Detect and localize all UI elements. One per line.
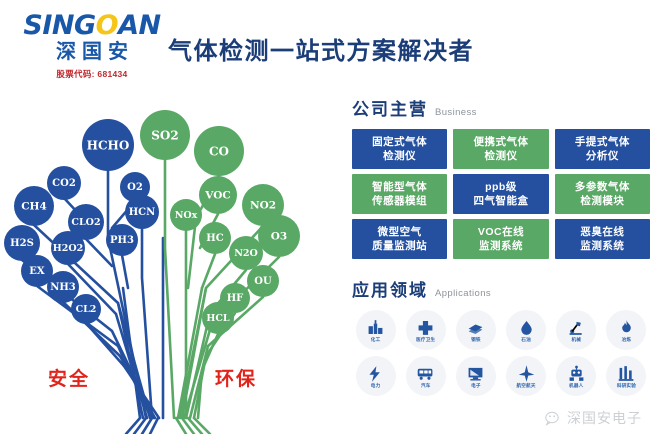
business-card-line2: 质量监测站 — [372, 239, 427, 253]
application-item[interactable]: 机械 — [553, 310, 600, 350]
application-icon-circle: 石油 — [506, 310, 546, 350]
tree-trunk — [126, 418, 210, 434]
application-item[interactable]: 化工 — [352, 310, 399, 350]
application-icon-circle: 冶炼 — [606, 310, 646, 350]
airplane-icon — [517, 364, 536, 383]
application-label: 科研实验 — [617, 384, 636, 389]
application-icon-circle: 电子 — [456, 356, 496, 396]
business-card-line1: 恶臭在线 — [580, 225, 624, 239]
application-icon-circle: 航空航天 — [506, 356, 546, 396]
application-label: 石油 — [521, 338, 531, 343]
business-card[interactable]: 固定式气体检测仪 — [352, 129, 447, 169]
gas-bubbles-blue: HCHOCO2O2CH4CLO2HCNH2SPH3H2O2EXNH3CL2 — [4, 119, 159, 324]
application-label: 机器人 — [569, 384, 583, 389]
application-item[interactable]: 医疗卫生 — [402, 310, 449, 350]
logo-wordmark-part1: SING — [23, 10, 95, 41]
application-label: 电力 — [371, 384, 381, 389]
business-card-line1: 智能型气体 — [372, 180, 427, 194]
gas-label-hf: HF — [227, 293, 244, 304]
stock-code: 股票代码: 681434 — [22, 68, 162, 80]
lab-flask-icon — [617, 364, 636, 383]
gas-label-cl2: CL2 — [76, 304, 97, 315]
gas-label-hcl: HCL — [206, 313, 230, 324]
gas-label-nh3: NH3 — [50, 282, 76, 293]
business-card-line2: 监测系统 — [580, 239, 624, 253]
gas-label-h2s: H2S — [10, 238, 34, 249]
logo-sun-icon: O — [96, 10, 118, 41]
business-card-line2: 传感器模组 — [372, 194, 427, 208]
application-item[interactable]: 冶炼 — [603, 310, 650, 350]
robot-icon — [567, 364, 586, 383]
steel-beam-icon — [466, 318, 485, 337]
application-icon-circle: 医疗卫生 — [406, 310, 446, 350]
wechat-watermark: 深国安电子 — [545, 408, 642, 428]
application-item[interactable]: 科研实验 — [603, 356, 650, 396]
application-icon-circle: 化工 — [356, 310, 396, 350]
business-card[interactable]: 微型空气质量监测站 — [352, 219, 447, 259]
applications-heading-cn: 应用领域 — [352, 276, 428, 301]
gas-label-co2: CO2 — [52, 178, 76, 189]
lightning-bolt-icon — [366, 364, 385, 383]
gas-label-ch4: CH4 — [21, 201, 47, 213]
logo-wordmark-part2: AN — [118, 10, 161, 41]
monitor-icon — [466, 364, 485, 383]
applications-section-heading: 应用领域 Applications — [352, 276, 650, 301]
applications-heading-en: Applications — [435, 288, 491, 299]
application-icon-circle: 科研实验 — [606, 356, 646, 396]
application-label: 汽车 — [421, 384, 431, 389]
application-label: 钢铁 — [471, 338, 481, 343]
application-item[interactable]: 汽车 — [402, 356, 449, 396]
application-label: 冶炼 — [622, 338, 632, 343]
application-label: 医疗卫生 — [416, 338, 435, 343]
gas-label-o2: O2 — [127, 182, 143, 193]
application-label: 机械 — [571, 338, 581, 343]
business-card-line2: 监测系统 — [479, 239, 523, 253]
gas-label-voc: VOC — [204, 190, 230, 202]
application-icon-circle: 电力 — [356, 356, 396, 396]
business-heading-cn: 公司主营 — [352, 95, 428, 120]
business-card[interactable]: VOC在线监测系统 — [453, 219, 548, 259]
gas-label-hc: HC — [206, 233, 223, 244]
business-card-line1: 固定式气体 — [372, 135, 427, 149]
gas-label-ph3: PH3 — [110, 235, 134, 246]
gas-label-h2o2: H2O2 — [53, 243, 83, 254]
business-card-line1: 便携式气体 — [473, 135, 528, 149]
business-card[interactable]: 便携式气体检测仪 — [453, 129, 548, 169]
robot-arm-icon — [567, 318, 586, 337]
application-label: 航空航天 — [516, 384, 535, 389]
application-label: 化工 — [371, 338, 381, 343]
brand-logo: SINGOAN 深国安 股票代码: 681434 — [22, 12, 162, 80]
application-icon-circle: 汽车 — [406, 356, 446, 396]
gas-label-nox: NOx — [175, 210, 198, 221]
gas-label-ex: EX — [29, 266, 45, 277]
gas-tree-illustration: 安全 环保 HCHOCO2O2CH4CLO2HCNH2SPH3H2O2EXNH3… — [0, 88, 340, 434]
logo-chinese-name: 深国安 — [22, 42, 162, 63]
tree-word-environment: 环保 — [215, 367, 257, 390]
application-label: 电子 — [471, 384, 481, 389]
tree-word-safety: 安全 — [48, 367, 90, 390]
gas-label-no2: NO2 — [250, 200, 276, 212]
logo-wordmark: SINGOAN — [22, 12, 162, 39]
gas-tree-svg: 安全 环保 HCHOCO2O2CH4CLO2HCNH2SPH3H2O2EXNH3… — [0, 88, 340, 434]
gas-label-clo2: CLO2 — [71, 217, 100, 228]
medical-cross-icon — [416, 318, 435, 337]
wechat-bubble-icon — [545, 411, 562, 426]
gas-label-ou: OU — [254, 276, 272, 287]
application-icon-circle: 机器人 — [556, 356, 596, 396]
business-card[interactable]: 手提式气体分析仪 — [555, 129, 650, 169]
application-item[interactable]: 机器人 — [553, 356, 600, 396]
business-card-grid: 固定式气体检测仪便携式气体检测仪手提式气体分析仪智能型气体传感器模组ppb级四气… — [352, 129, 650, 259]
right-panel: 公司主营 Business 固定式气体检测仪便携式气体检测仪手提式气体分析仪智能… — [352, 95, 650, 396]
applications-icon-grid: 化工医疗卫生钢铁石油机械冶炼电力汽车电子航空航天机器人科研实验 — [352, 310, 650, 396]
gas-label-o3: O3 — [271, 231, 287, 243]
application-item[interactable]: 电子 — [452, 356, 499, 396]
oil-drop-icon — [517, 318, 536, 337]
business-card-line2: 四气智能盒 — [473, 194, 528, 208]
business-card[interactable]: 恶臭在线监测系统 — [555, 219, 650, 259]
application-item[interactable]: 石油 — [503, 310, 550, 350]
application-item[interactable]: 钢铁 — [452, 310, 499, 350]
business-card-line1: 微型空气 — [378, 225, 422, 239]
business-card-line1: ppb级 — [485, 180, 517, 194]
factory-icon — [366, 318, 385, 337]
business-card-line2: 检测模块 — [580, 194, 624, 208]
gas-label-co: CO — [209, 145, 229, 159]
application-icon-circle: 钢铁 — [456, 310, 496, 350]
page-header: SINGOAN 深国安 股票代码: 681434 气体检测一站式方案解决者 — [0, 0, 650, 92]
business-card-line1: 手提式气体 — [575, 135, 630, 149]
business-card-line1: 多参数气体 — [575, 180, 630, 194]
business-heading-en: Business — [435, 107, 477, 118]
business-card-line2: 分析仪 — [586, 149, 619, 163]
gas-label-hcn: HCN — [129, 207, 156, 218]
business-card-line2: 检测仪 — [383, 149, 416, 163]
business-card[interactable]: 智能型气体传感器模组 — [352, 174, 447, 214]
business-section-heading: 公司主营 Business — [352, 95, 650, 120]
business-card[interactable]: ppb级四气智能盒 — [453, 174, 548, 214]
application-item[interactable]: 电力 — [352, 356, 399, 396]
application-icon-circle: 机械 — [556, 310, 596, 350]
gas-label-so2: SO2 — [151, 129, 178, 143]
watermark-text: 深国安电子 — [567, 408, 642, 428]
page-title: 气体检测一站式方案解决者 — [168, 31, 474, 66]
business-card-line1: VOC在线 — [478, 225, 524, 239]
bus-icon — [416, 364, 435, 383]
business-card-line2: 检测仪 — [484, 149, 517, 163]
gas-label-hcho: HCHO — [87, 139, 130, 153]
furnace-flame-icon — [617, 318, 636, 337]
application-item[interactable]: 航空航天 — [503, 356, 550, 396]
business-card[interactable]: 多参数气体检测模块 — [555, 174, 650, 214]
gas-label-n2o: N2O — [234, 248, 258, 259]
